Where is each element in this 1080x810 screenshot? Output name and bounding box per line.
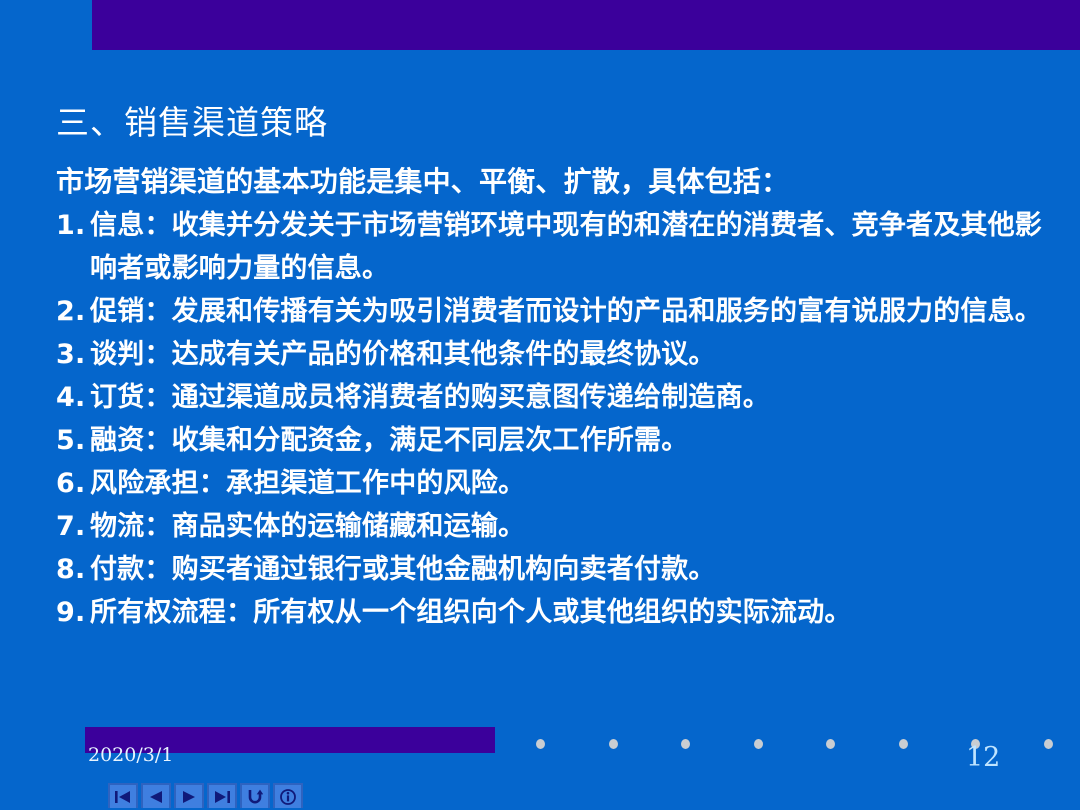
- previous-slide-button[interactable]: [141, 783, 171, 808]
- list-item-number: 4.: [56, 376, 86, 419]
- presentation-slide: 三、销售渠道策略 市场营销渠道的基本功能是集中、平衡、扩散，具体包括： 1.信息…: [0, 0, 1080, 810]
- return-button[interactable]: [240, 783, 270, 808]
- list-item-number: 9.: [56, 591, 86, 634]
- footer-dot: [899, 739, 908, 749]
- list-item: 7.物流：商品实体的运输储藏和运输。: [56, 505, 1051, 548]
- list-item: 4.订货：通过渠道成员将消费者的购买意图传递给制造商。: [56, 376, 1051, 419]
- navigation-button-bar[interactable]: [108, 783, 303, 808]
- next-icon: [180, 790, 198, 804]
- footer-date: 2020/3/1: [88, 744, 173, 766]
- list-item-number: 5.: [56, 419, 86, 462]
- list-item-text: 促销：发展和传播有关为吸引消费者而设计的产品和服务的富有说服力的信息。: [90, 290, 1051, 333]
- list-item: 5.融资：收集和分配资金，满足不同层次工作所需。: [56, 419, 1051, 462]
- list-item: 3.谈判：达成有关产品的价格和其他条件的最终协议。: [56, 333, 1051, 376]
- list-item-text: 所有权流程：所有权从一个组织向个人或其他组织的实际流动。: [90, 591, 1051, 634]
- footer-dot: [536, 739, 545, 749]
- list-item-number: 8.: [56, 548, 86, 591]
- list-item: 2.促销：发展和传播有关为吸引消费者而设计的产品和服务的富有说服力的信息。: [56, 290, 1051, 333]
- list-item-number: 7.: [56, 505, 86, 548]
- list-item-text: 订货：通过渠道成员将消费者的购买意图传递给制造商。: [90, 376, 1051, 419]
- list-item: 9.所有权流程：所有权从一个组织向个人或其他组织的实际流动。: [56, 591, 1051, 634]
- list-item-text: 物流：商品实体的运输储藏和运输。: [90, 505, 1051, 548]
- slide-body: 市场营销渠道的基本功能是集中、平衡、扩散，具体包括： 1.信息：收集并分发关于市…: [56, 160, 1051, 634]
- list-item-number: 1.: [56, 204, 86, 247]
- list-item-text: 信息：收集并分发关于市场营销环境中现有的和潜在的消费者、竞争者及其他影响者或影响…: [90, 204, 1051, 290]
- lead-paragraph: 市场营销渠道的基本功能是集中、平衡、扩散，具体包括：: [56, 160, 1051, 204]
- last-icon: [213, 790, 231, 804]
- last-slide-button[interactable]: [207, 783, 237, 808]
- next-slide-button[interactable]: [174, 783, 204, 808]
- list-item-number: 2.: [56, 290, 86, 333]
- footer-dot: [826, 739, 835, 749]
- top-accent-bar: [92, 0, 1080, 50]
- footer-dot: [609, 739, 618, 749]
- list-item-text: 风险承担：承担渠道工作中的风险。: [90, 462, 1051, 505]
- list-item-number: 6.: [56, 462, 86, 505]
- list-item-text: 谈判：达成有关产品的价格和其他条件的最终协议。: [90, 333, 1051, 376]
- footer-dot: [1044, 739, 1053, 749]
- return-icon: [247, 789, 263, 804]
- page-number: 12: [966, 742, 1000, 773]
- list-item: 6.风险承担：承担渠道工作中的风险。: [56, 462, 1051, 505]
- slide-title: 三、销售渠道策略: [56, 104, 328, 142]
- info-button[interactable]: [273, 783, 303, 808]
- info-icon: [280, 789, 296, 805]
- channel-function-list: 1.信息：收集并分发关于市场营销环境中现有的和潜在的消费者、竞争者及其他影响者或…: [56, 204, 1051, 634]
- list-item-text: 融资：收集和分配资金，满足不同层次工作所需。: [90, 419, 1051, 462]
- footer-dot: [681, 739, 690, 749]
- first-icon: [114, 790, 132, 804]
- list-item-number: 3.: [56, 333, 86, 376]
- previous-icon: [147, 790, 165, 804]
- first-slide-button[interactable]: [108, 783, 138, 808]
- list-item-text: 付款：购买者通过银行或其他金融机构向卖者付款。: [90, 548, 1051, 591]
- list-item: 8.付款：购买者通过银行或其他金融机构向卖者付款。: [56, 548, 1051, 591]
- list-item: 1.信息：收集并分发关于市场营销环境中现有的和潜在的消费者、竞争者及其他影响者或…: [56, 204, 1051, 290]
- footer-dot: [754, 739, 763, 749]
